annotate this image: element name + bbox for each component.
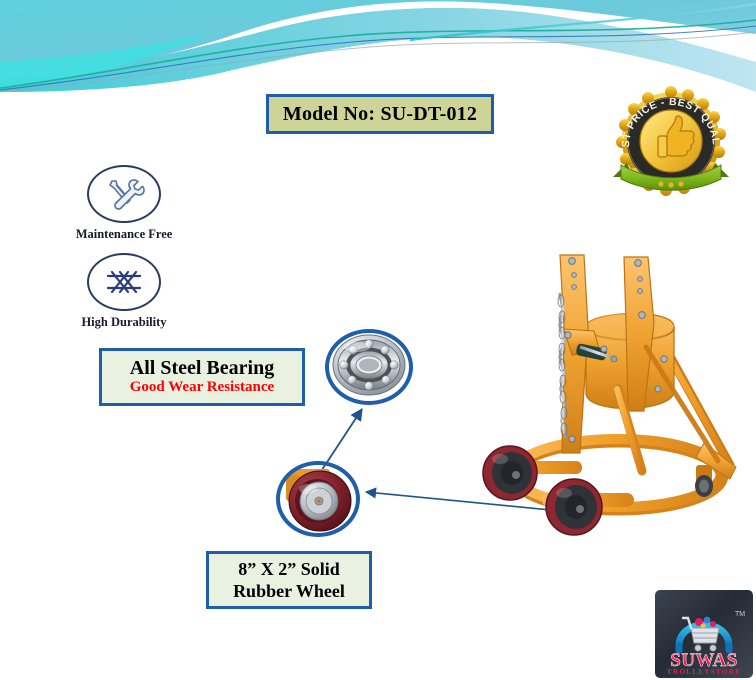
trolley-wheel-front [546,479,602,535]
best-price-best-quality-badge: BEST PRICE - BEST QUALITY [607,81,735,203]
wrench-screwdriver-icon [87,165,161,223]
rubber-wheel-detail [276,461,360,537]
ball-bearing-detail [325,329,413,405]
woven-mesh-icon [87,253,161,311]
wheel-callout-line1: 8” X 2” Solid [238,558,340,581]
decorative-wave-banner [0,0,756,92]
wheel-callout-line2: Rubber Wheel [233,580,345,603]
trolley-wheel-left [483,446,537,500]
feature-maintenance-free: Maintenance Free [49,165,199,242]
product-image-drum-trolley [468,243,756,547]
feature-high-durability-label: High Durability [49,315,199,330]
feature-high-durability: High Durability [49,253,199,330]
bearing-callout-box: All Steel Bearing Good Wear Resistance [99,348,305,406]
logo-trademark: TM [735,611,745,618]
bearing-callout-subtitle: Good Wear Resistance [130,379,274,396]
trolley-caster-rear [695,465,713,497]
product-slide: Model No: SU-DT-012 [0,0,756,680]
bearing-callout-title: All Steel Bearing [130,358,274,379]
feature-maintenance-free-label: Maintenance Free [49,227,199,242]
logo-tagline-text: TROLLEYSTORE [667,667,741,676]
model-number-box: Model No: SU-DT-012 [266,94,494,134]
wheel-callout-box: 8” X 2” Solid Rubber Wheel [206,551,372,609]
model-number-label: Model No: SU-DT-012 [283,103,477,126]
suwas-trolleystore-logo: TM SUWAS TROLLEYSTORE [655,590,753,678]
